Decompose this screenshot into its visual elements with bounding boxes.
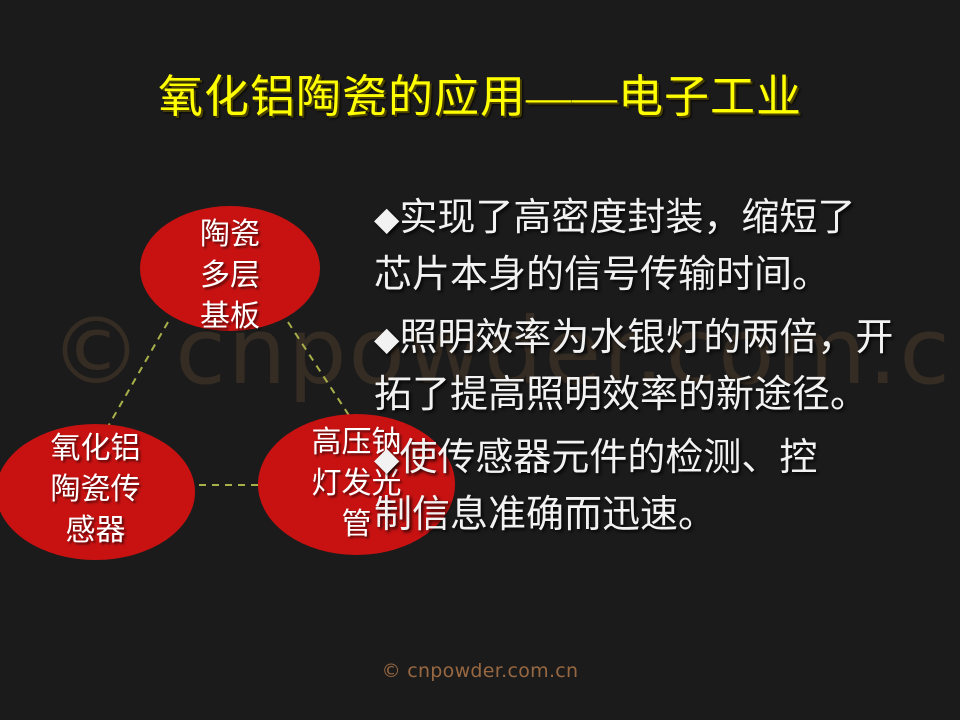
- diagram-node-label-2: 氧化铝 陶瓷传 感器: [0, 428, 195, 551]
- bullet-item: ◆照明效率为水银灯的两倍，开 拓了提高照明效率的新途径。: [374, 310, 960, 424]
- bullet-line-1: 使传感器元件的检测、控: [399, 437, 817, 479]
- diagram-node-label-1: 陶瓷 多层 基板: [140, 214, 320, 337]
- connector-node1-node2: [106, 322, 168, 430]
- diamond-bullet-icon: ◆: [374, 319, 399, 358]
- diamond-bullet-icon: ◆: [374, 199, 399, 238]
- bullet-item: ◆使传感器元件的检测、控 制信息准确而迅速。: [374, 430, 960, 544]
- bullet-line-1: 照明效率为水银灯的两倍，开: [399, 317, 893, 359]
- bullet-line-2: 拓了提高照明效率的新途径。: [374, 367, 960, 424]
- diamond-bullet-icon: ◆: [374, 439, 399, 478]
- slide-canvas: © cnpowder.com.cn 氧化铝陶瓷的应用——电子工业 陶瓷 多层 基…: [0, 0, 960, 720]
- footer-watermark: © cnpowder.com.cn: [0, 660, 960, 682]
- bullet-line-2: 芯片本身的信号传输时间。: [374, 247, 960, 304]
- bullet-list: ◆实现了高密度封装，缩短了 芯片本身的信号传输时间。 ◆照明效率为水银灯的两倍，…: [374, 190, 960, 550]
- bullet-line-1: 实现了高密度封装，缩短了: [399, 197, 855, 239]
- bullet-line-2: 制信息准确而迅速。: [374, 487, 960, 544]
- bullet-item: ◆实现了高密度封装，缩短了 芯片本身的信号传输时间。: [374, 190, 960, 304]
- page-title: 氧化铝陶瓷的应用——电子工业: [0, 68, 960, 126]
